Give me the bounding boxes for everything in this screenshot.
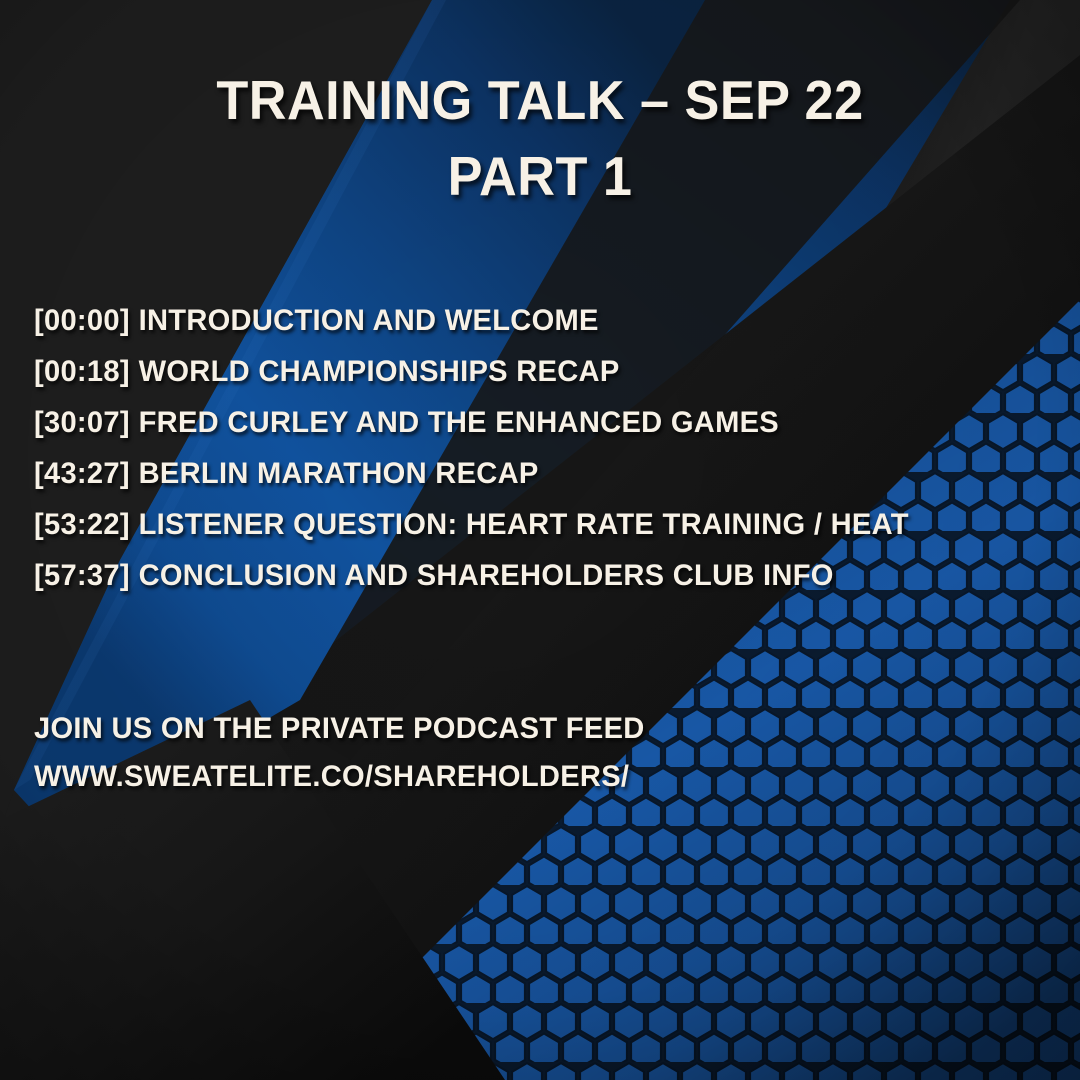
chapter-timestamp: [43:27]	[34, 457, 130, 490]
chapter-row: [00:00]INTRODUCTION AND WELCOME	[34, 295, 1014, 346]
chapter-label: LISTENER QUESTION: HEART RATE TRAINING /…	[139, 508, 909, 541]
chapter-row: [43:27]BERLIN MARATHON RECAP	[34, 448, 1014, 499]
podcast-episode-poster: TRAINING TALK – SEP 22 PART 1 [00:00]INT…	[0, 0, 1080, 1080]
chapter-label: CONCLUSION AND SHAREHOLDERS CLUB INFO	[139, 559, 834, 592]
chapter-timestamp: [30:07]	[34, 406, 130, 439]
chapter-row: [53:22]LISTENER QUESTION: HEART RATE TRA…	[34, 499, 1014, 550]
poster-content: TRAINING TALK – SEP 22 PART 1 [00:00]INT…	[0, 0, 1080, 1080]
footer-url: WWW.SWEATELITE.CO/SHAREHOLDERS/	[34, 753, 1014, 801]
title-block: TRAINING TALK – SEP 22 PART 1	[0, 62, 1080, 214]
chapter-timestamp: [53:22]	[34, 508, 130, 541]
chapter-timestamp: [00:00]	[34, 304, 130, 337]
chapter-label: WORLD CHAMPIONSHIPS RECAP	[139, 355, 620, 388]
chapter-timestamp-list: [00:00]INTRODUCTION AND WELCOME [00:18]W…	[34, 295, 1044, 601]
chapter-row: [00:18]WORLD CHAMPIONSHIPS RECAP	[34, 346, 1014, 397]
poster-title-line-1: TRAINING TALK – SEP 22	[27, 62, 1053, 138]
chapter-label: FRED CURLEY AND THE ENHANCED GAMES	[139, 406, 779, 439]
footer-block: JOIN US ON THE PRIVATE PODCAST FEED WWW.…	[34, 705, 1044, 801]
chapter-row: [57:37]CONCLUSION AND SHAREHOLDERS CLUB …	[34, 550, 1014, 601]
chapter-row: [30:07]FRED CURLEY AND THE ENHANCED GAME…	[34, 397, 1014, 448]
chapter-label: BERLIN MARATHON RECAP	[139, 457, 539, 490]
chapter-timestamp: [00:18]	[34, 355, 130, 388]
poster-title-line-2: PART 1	[27, 138, 1053, 214]
footer-call-to-action: JOIN US ON THE PRIVATE PODCAST FEED	[34, 705, 1014, 753]
chapter-timestamp: [57:37]	[34, 559, 130, 592]
chapter-label: INTRODUCTION AND WELCOME	[139, 304, 599, 337]
